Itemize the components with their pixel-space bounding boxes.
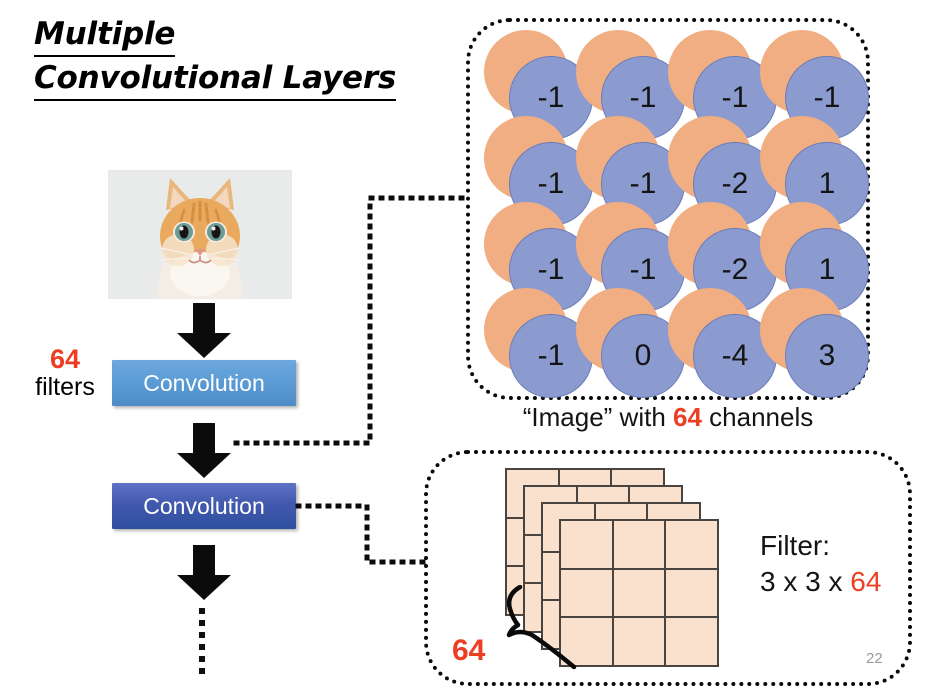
channel-cell: -1	[576, 202, 672, 298]
channel-cell: 1	[760, 116, 856, 212]
convolution-box-1-label: Convolution	[143, 370, 264, 397]
convolution-box-2-label: Convolution	[143, 493, 264, 520]
channel-cell: -1	[484, 202, 580, 298]
filters-count-label: 64 filters	[22, 345, 108, 401]
flow-arrow-3	[174, 545, 234, 601]
channel-cell: -1	[484, 116, 580, 212]
channel-cell: -2	[668, 116, 764, 212]
page-number: 22	[866, 650, 883, 667]
channel-cell: -4	[668, 288, 764, 384]
kitten-photo	[108, 170, 292, 299]
vertical-ellipsis-icon	[197, 608, 207, 674]
channel-cell: -1	[576, 30, 672, 126]
caption-suffix: channels	[702, 402, 813, 432]
filter-spec-dims: 3 x 3 x	[760, 566, 850, 597]
convolution-box-2[interactable]: Convolution	[112, 483, 296, 529]
connector-to-filter-callout	[298, 506, 424, 562]
caption-channel-count: 64	[673, 402, 702, 432]
channel-cell: 3	[760, 288, 856, 384]
flow-arrow-2	[174, 423, 234, 479]
title-line-1: Multiple	[34, 16, 175, 57]
flow-arrow-1	[174, 303, 234, 359]
page-title: Multiple Convolutional Layers	[34, 16, 434, 104]
filter-spec-channels: 64	[850, 566, 881, 597]
channel-front-circle: 3	[785, 314, 869, 398]
channel-cell: -1	[484, 30, 580, 126]
caption-prefix: “Image” with	[523, 402, 673, 432]
convolution-box-1[interactable]: Convolution	[112, 360, 296, 406]
depth-brace-icon	[498, 585, 588, 673]
filters-word: filters	[22, 374, 108, 401]
slide-canvas: Multiple Convolutional Layers	[0, 0, 929, 693]
filters-count-value: 64	[22, 345, 108, 374]
channel-cell: -1	[484, 288, 580, 384]
channel-cell: -2	[668, 202, 764, 298]
channel-cell: 1	[760, 202, 856, 298]
filter-stack-depth-label: 64	[452, 634, 485, 668]
channel-cell: -1	[760, 30, 856, 126]
filter-spec-line-1: Filter:	[760, 528, 881, 564]
filter-spec-line-2: 3 x 3 x 64	[760, 564, 881, 600]
channel-cell: -1	[576, 116, 672, 212]
filter-spec-label: Filter: 3 x 3 x 64	[760, 528, 881, 600]
channel-cell: 0	[576, 288, 672, 384]
image-callout-caption: “Image” with 64 channels	[466, 402, 870, 433]
title-line-2: Convolutional Layers	[34, 60, 396, 101]
channel-cell: -1	[668, 30, 764, 126]
channel-circle-grid: -1 -1 -1 -1 -1 -1 -2 1	[484, 30, 856, 388]
